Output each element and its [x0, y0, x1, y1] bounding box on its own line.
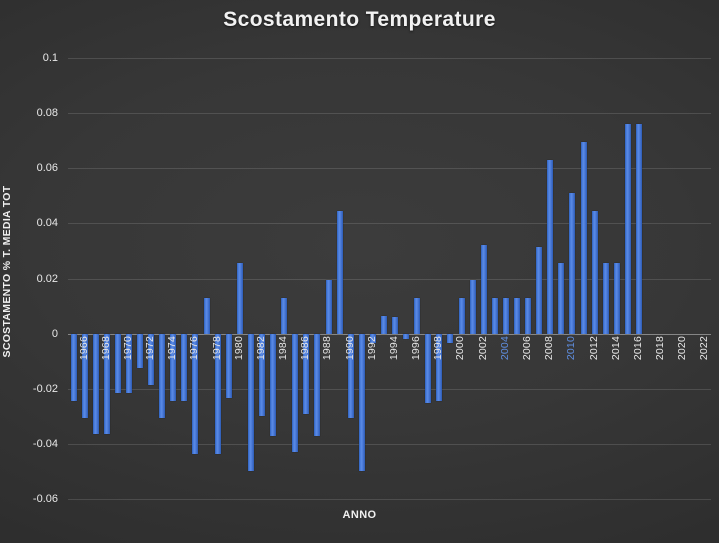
x-axis-tick-label: 1972 — [144, 336, 156, 382]
bar[interactable] — [525, 298, 531, 334]
x-axis-tick-label: 1966 — [78, 336, 90, 382]
chart-title: Scostamento Temperature — [0, 8, 719, 32]
x-axis-tick-label: 1984 — [277, 336, 289, 382]
bar[interactable] — [614, 263, 620, 333]
bar[interactable] — [459, 298, 465, 334]
bar-series — [68, 58, 711, 499]
x-axis-tick-label: 2014 — [610, 336, 622, 382]
x-axis-tick-label: 2010 — [565, 336, 577, 382]
bar[interactable] — [337, 211, 343, 334]
y-axis-tick-label: 0.02 — [0, 273, 58, 285]
bar[interactable] — [492, 298, 498, 334]
bar[interactable] — [470, 280, 476, 334]
x-axis-tick-label: 1998 — [432, 336, 444, 382]
bar[interactable] — [569, 193, 575, 334]
x-axis-tick-label: 2000 — [454, 336, 466, 382]
x-axis-tick-label: 2020 — [676, 336, 688, 382]
x-axis-ticks: 1966196819701972197419761978198019821984… — [68, 336, 711, 396]
x-axis-tick-label: 1988 — [321, 336, 333, 382]
x-axis-tick-label: 2008 — [543, 336, 555, 382]
plot-area — [68, 58, 711, 499]
x-axis-tick-label: 1982 — [255, 336, 267, 382]
bar[interactable] — [603, 263, 609, 333]
y-axis-tick-label: -0.04 — [0, 438, 58, 450]
x-axis-tick-label: 2016 — [632, 336, 644, 382]
y-axis-tick-label: 0.04 — [0, 217, 58, 229]
y-axis-tick-label: 0 — [0, 328, 58, 340]
x-axis-tick-label: 1978 — [211, 336, 223, 382]
bar[interactable] — [237, 263, 243, 333]
bar[interactable] — [503, 298, 509, 334]
x-axis-tick-label: 2022 — [698, 336, 710, 382]
bar[interactable] — [281, 298, 287, 334]
x-axis-tick-label: 2004 — [499, 336, 511, 382]
bar[interactable] — [592, 211, 598, 334]
bar[interactable] — [514, 298, 520, 334]
x-axis-tick-label: 1976 — [188, 336, 200, 382]
y-axis-tick-label: -0.02 — [0, 383, 58, 395]
bar[interactable] — [204, 298, 210, 334]
x-axis-tick-label: 1980 — [233, 336, 245, 382]
x-axis-tick-label: 2006 — [521, 336, 533, 382]
y-axis-tick-label: 0.1 — [0, 52, 58, 64]
x-axis-tick-label: 1986 — [299, 336, 311, 382]
gridline — [68, 499, 711, 500]
bar[interactable] — [392, 317, 398, 334]
x-axis-tick-label: 1970 — [122, 336, 134, 382]
bar[interactable] — [547, 160, 553, 334]
x-axis-tick-label: 1994 — [388, 336, 400, 382]
bar[interactable] — [558, 263, 564, 333]
bar[interactable] — [625, 124, 631, 333]
bar[interactable] — [536, 247, 542, 334]
y-axis-tick-label: -0.06 — [0, 493, 58, 505]
bar[interactable] — [326, 280, 332, 334]
x-axis-tick-label: 1992 — [366, 336, 378, 382]
bar[interactable] — [636, 124, 642, 333]
x-axis-title: ANNO — [0, 509, 719, 521]
y-axis-tick-label: 0.06 — [0, 162, 58, 174]
bar[interactable] — [581, 142, 587, 334]
x-axis-tick-label: 2012 — [588, 336, 600, 382]
bar[interactable] — [414, 298, 420, 334]
bar[interactable] — [381, 316, 387, 334]
bar[interactable] — [481, 245, 487, 333]
x-axis-tick-label: 1974 — [166, 336, 178, 382]
x-axis-tick-label: 2018 — [654, 336, 666, 382]
y-axis-title: SCOSTAMENTO % T. MEDIA TOT — [0, 0, 18, 543]
x-axis-tick-label: 1968 — [100, 336, 112, 382]
x-axis-tick-label: 1990 — [344, 336, 356, 382]
x-axis-tick-label: 2002 — [477, 336, 489, 382]
x-axis-tick-label: 1996 — [410, 336, 422, 382]
chart-container: Scostamento Temperature SCOSTAMENTO % T.… — [0, 0, 719, 543]
y-axis-tick-label: 0.08 — [0, 107, 58, 119]
